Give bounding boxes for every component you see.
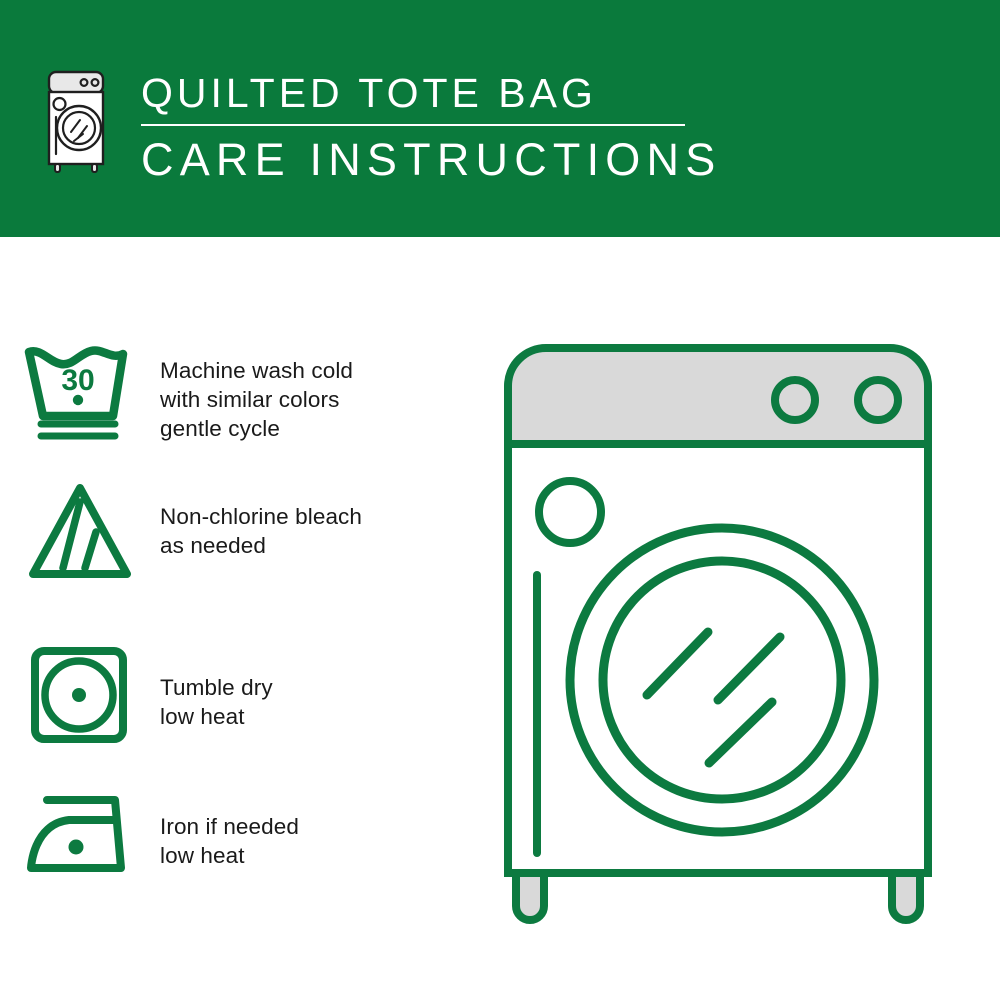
title-divider <box>141 124 685 126</box>
care-row-tumble-dry: Tumble dry low heat <box>0 645 480 745</box>
care-text-dry-line-2: low heat <box>160 702 480 731</box>
care-text-bleach-line-2: as needed <box>160 531 480 560</box>
care-instructions-page: QUILTED TOTE BAG CARE INSTRUCTIONS 30 Ma… <box>0 0 1000 1000</box>
care-text-dry-line-1: Tumble dry <box>160 673 480 702</box>
care-text-tumble-dry: Tumble dry low heat <box>160 645 480 731</box>
care-text-wash-line-2: with similar colors <box>160 385 480 414</box>
care-text-bleach-line-1: Non-chlorine bleach <box>160 502 480 531</box>
machine-wash-basin-icon: 30 <box>0 338 160 446</box>
tumble-dry-low-heat-icon <box>0 645 160 745</box>
care-row-bleach: Non-chlorine bleach as needed <box>0 480 480 582</box>
care-text-wash: Machine wash cold with similar colors ge… <box>160 338 480 443</box>
care-text-wash-line-3: gentle cycle <box>160 414 480 443</box>
care-text-bleach: Non-chlorine bleach as needed <box>160 480 480 560</box>
control-panel <box>508 348 928 444</box>
washing-machine-illustration <box>480 320 980 950</box>
care-text-iron: Iron if needed low heat <box>160 790 480 870</box>
washing-machine-icon <box>44 68 108 176</box>
iron-low-heat-icon <box>0 790 160 876</box>
care-text-iron-line-1: Iron if needed <box>160 812 480 841</box>
header-banner: QUILTED TOTE BAG CARE INSTRUCTIONS <box>0 0 1000 237</box>
care-row-iron: Iron if needed low heat <box>0 790 480 876</box>
wash-temperature-value: 30 <box>61 364 94 397</box>
care-text-iron-line-2: low heat <box>160 841 480 870</box>
page-title-product: QUILTED TOTE BAG <box>141 68 701 118</box>
care-text-wash-line-1: Machine wash cold <box>160 356 480 385</box>
page-title-care-instructions: CARE INSTRUCTIONS <box>141 134 701 186</box>
non-chlorine-bleach-triangle-icon <box>0 480 160 582</box>
header-title-group: QUILTED TOTE BAG CARE INSTRUCTIONS <box>141 68 701 186</box>
care-row-wash: 30 Machine wash cold with similar colors… <box>0 338 480 446</box>
